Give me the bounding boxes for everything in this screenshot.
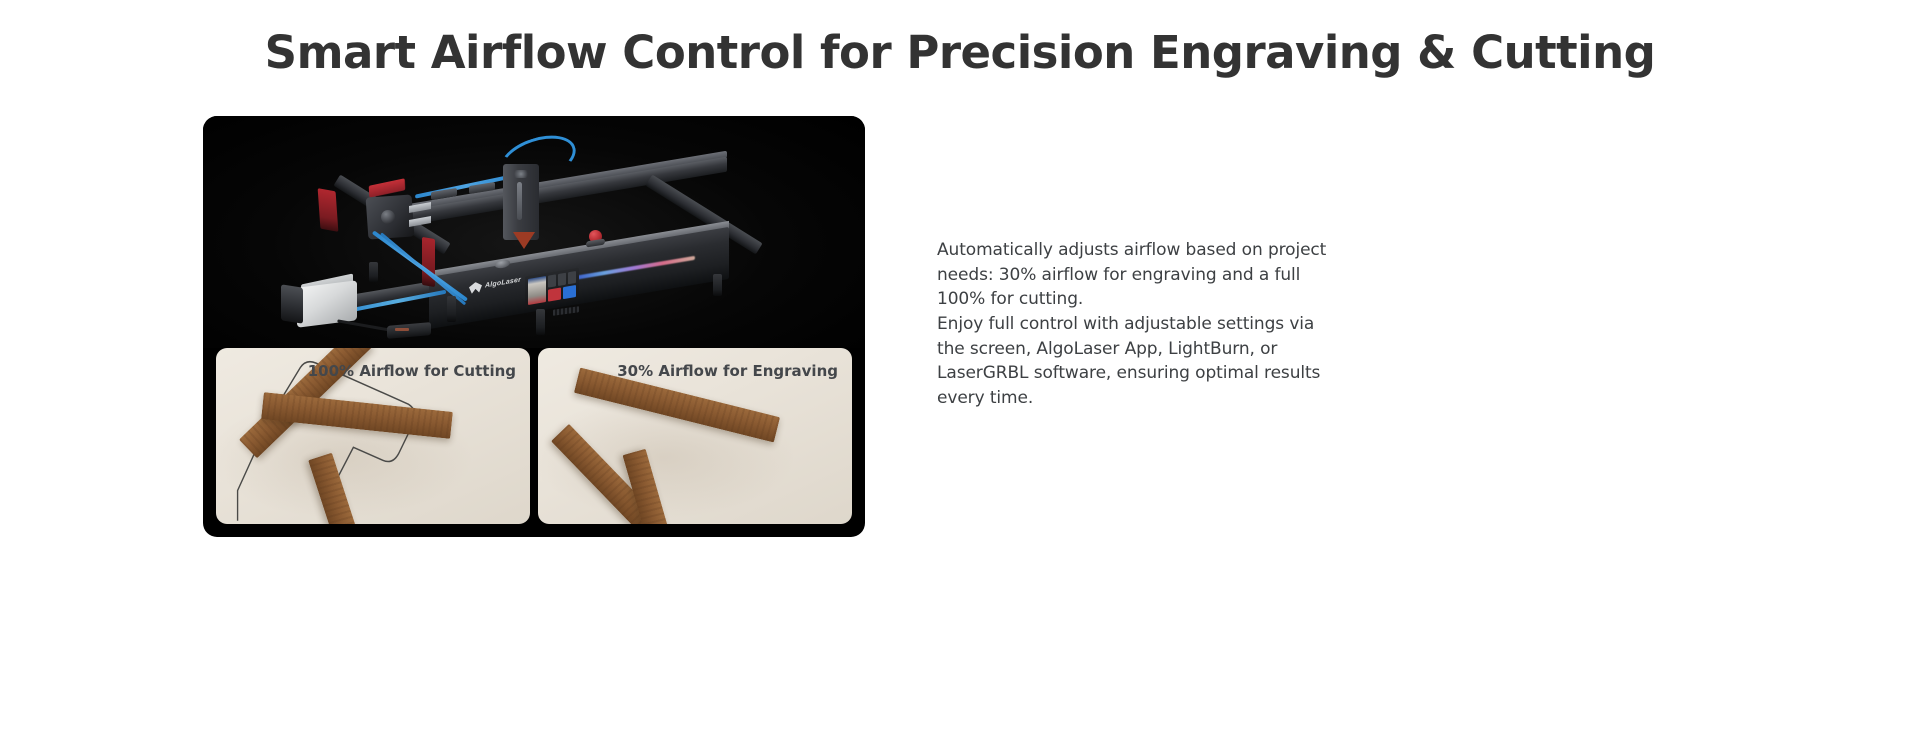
keypad-key-start[interactable] (563, 285, 576, 299)
keypad-key[interactable] (558, 273, 566, 286)
product-hero-image: AlgoLaser (203, 116, 865, 348)
power-adapter-brick (387, 322, 431, 339)
description-column: Automatically adjusts airflow based on p… (937, 238, 1337, 410)
keypad-key-stop[interactable] (548, 287, 561, 301)
laser-engraver-illustration: AlgoLaser (281, 134, 801, 346)
machine-leg (447, 296, 456, 322)
laser-nozzle-tip (513, 232, 535, 249)
machine-leg (536, 309, 545, 335)
sample-label-engraving: 30% Airflow for Engraving (617, 362, 838, 380)
red-end-cap-left (318, 188, 339, 232)
laser-module-logo (512, 170, 530, 178)
wood-letter-stroke (308, 453, 378, 524)
algolaser-glyph-icon (469, 281, 482, 294)
keypad-key[interactable] (568, 271, 576, 284)
page-title: Smart Airflow Control for Precision Engr… (0, 26, 1920, 79)
media-card: AlgoLaser 100% Airflow for Cutting (203, 116, 865, 537)
wood-letter-stroke (261, 392, 453, 439)
power-cable (337, 319, 391, 331)
control-keypad[interactable] (548, 271, 576, 302)
keypad-key[interactable] (548, 274, 556, 287)
sample-comparison-strip: 100% Airflow for Cutting 30% Airflow for… (203, 348, 865, 537)
description-paragraph-2: Enjoy full control with adjustable setti… (937, 312, 1337, 411)
sample-panel-cutting: 100% Airflow for Cutting (216, 348, 530, 524)
air-assist-pump-front (281, 284, 303, 323)
power-indicator-led (395, 328, 409, 331)
machine-leg (369, 262, 378, 282)
keypad-row-bottom (548, 285, 576, 302)
carriage-knob (381, 210, 395, 224)
description-paragraph-1: Automatically adjusts airflow based on p… (937, 238, 1337, 312)
page-root: Smart Airflow Control for Precision Engr… (0, 0, 1920, 736)
sample-label-cutting: 100% Airflow for Cutting (308, 362, 516, 380)
machine-leg (713, 274, 722, 296)
sample-panel-engraving: 30% Airflow for Engraving (538, 348, 852, 524)
